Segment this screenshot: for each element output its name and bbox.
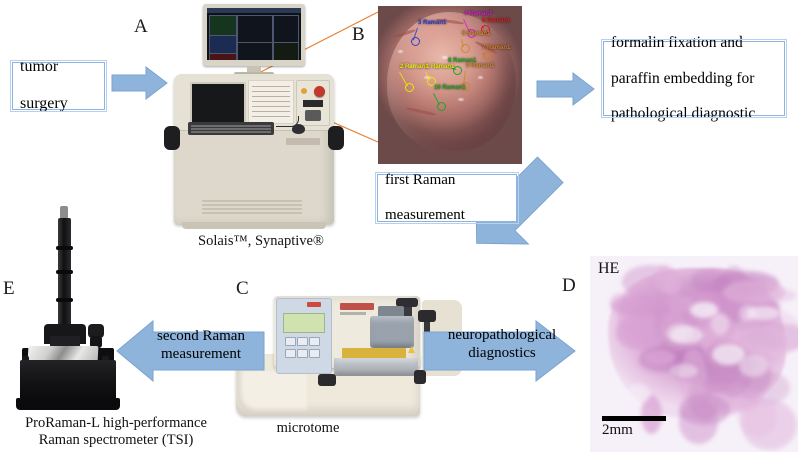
panel-letter-a: A [134, 16, 148, 38]
monitor-screen [207, 8, 301, 60]
raman-point-label: 10 Raman1 [434, 85, 466, 91]
thermo-brand-mark [340, 303, 374, 310]
tissue-region [679, 394, 730, 425]
tissue-region [691, 269, 730, 292]
caption-solais: Solais™, Synaptive® [176, 233, 346, 250]
blade-holder [334, 358, 418, 376]
specimen-holder [370, 316, 414, 348]
tumor-surgery-line1: tumor [20, 58, 97, 77]
emergency-stop-button [314, 86, 325, 97]
raman-point-label: 3 Raman1 [418, 20, 446, 26]
arrow-second-raman-label: second Raman measurement [136, 328, 266, 363]
arrow-tumor-to-solais [112, 66, 168, 100]
laptop-screen [190, 82, 246, 124]
lcd-display [283, 313, 325, 333]
first-raman-line2: measurement [385, 207, 509, 224]
panel-letter-e: E [3, 278, 15, 300]
solais-surgical-system-image [168, 4, 340, 230]
he-histology-image: HE 2mm [590, 256, 798, 452]
arrow-brain-to-formalin [537, 72, 595, 106]
arrow-neuropathological-label: neuropathological diagnostics [432, 327, 572, 362]
microtome-control-panel [276, 298, 332, 374]
caption-proraman: ProRaman-L high-performance Raman spectr… [2, 415, 230, 450]
control-knob [305, 110, 321, 121]
microtome-body [274, 296, 420, 368]
he-stain-label: HE [598, 260, 619, 278]
control-panel [296, 80, 330, 126]
tissue-region [644, 350, 676, 365]
neuro-line2: diagnostics [468, 345, 536, 361]
panel-letter-b: B [352, 24, 365, 46]
raman-point-label: 5 Raman1 [482, 18, 510, 24]
raman-point-label: 4 Raman1 [464, 11, 492, 17]
second-raman-line2: measurement [161, 346, 241, 362]
figure-canvas: 3 Raman14 Raman15 Raman16 Raman17 Raman1… [0, 0, 800, 454]
instrument-housing [20, 360, 116, 402]
tissue-region [723, 280, 785, 303]
blade-lock-knob-left [318, 374, 336, 386]
textbox-formalin-fixation: formalin fixation and paraffin embedding… [603, 41, 785, 116]
raman-point-label: 2 Raman1 [400, 64, 428, 70]
neuro-line1: neuropathological [448, 327, 556, 343]
numeric-display [303, 100, 323, 107]
cart-handle-left [164, 126, 180, 150]
power-button [307, 302, 321, 307]
panel-letter-d: D [562, 275, 576, 297]
raman-point-label: 1 Raman1 [426, 64, 454, 70]
formalin-line1: formalin fixation and [611, 34, 777, 52]
mouse [292, 124, 305, 134]
instrument-foot [16, 398, 120, 410]
ventilation-grille [202, 200, 302, 216]
proraman-line1: ProRaman-L high-performance [25, 415, 207, 431]
keyboard [188, 122, 274, 135]
cart-handle-right [328, 126, 344, 150]
textbox-tumor-surgery: tumor surgery [12, 62, 105, 110]
brand-subtext [340, 312, 366, 315]
second-raman-line1: second Raman [157, 328, 245, 344]
cart-base [182, 222, 326, 229]
scale-bar-label: 2mm [602, 422, 633, 439]
status-led [301, 88, 307, 94]
formalin-line3: pathological diagnostic [611, 105, 777, 123]
textbox-first-raman-measurement: first Raman measurement [377, 174, 517, 222]
proraman-spectrometer-image [14, 206, 126, 412]
raman-point-label: 9 Raman1 [466, 63, 494, 69]
caption-microtome: microtome [248, 420, 368, 437]
stroma-gap [746, 306, 780, 320]
raman-point-label: 7 Raman1 [482, 45, 510, 51]
stroma-gap [739, 355, 769, 376]
scale-bar [602, 416, 666, 421]
raman-point-label: 6 Raman1 [462, 31, 490, 37]
monitor [203, 4, 305, 66]
formalin-line2: paraffin embedding for [611, 70, 777, 88]
proraman-line2: Raman spectrometer (TSI) [39, 432, 194, 448]
tumor-surgery-line2: surgery [20, 95, 97, 114]
first-raman-line1: first Raman [385, 172, 509, 189]
panel-letter-c: C [236, 278, 249, 300]
cart-logo [286, 138, 320, 145]
stroma-gap [669, 364, 698, 379]
raman-point-marker [483, 51, 492, 60]
